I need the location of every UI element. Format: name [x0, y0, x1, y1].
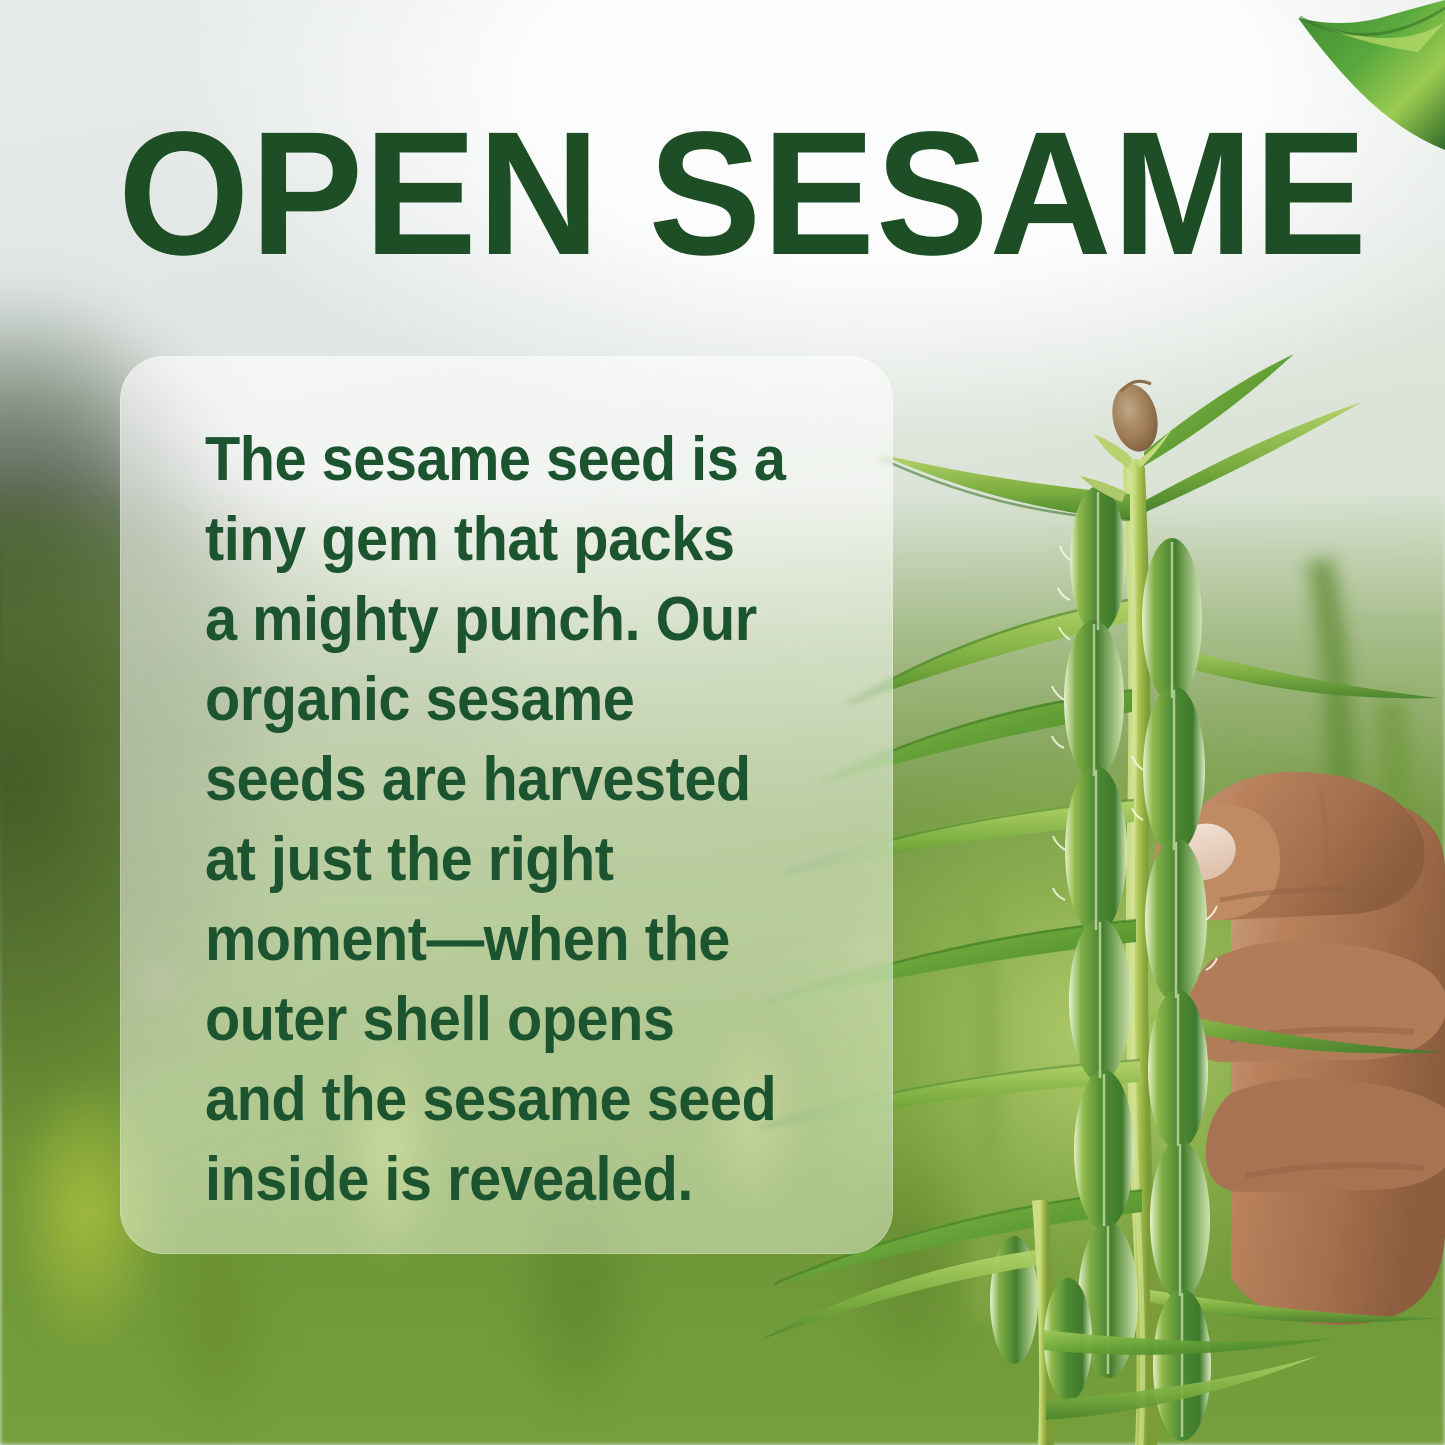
body-copy-text: The sesame seed is a tiny gem that packs… [205, 420, 800, 1220]
poster-canvas: The sesame seed is a tiny gem that packs… [0, 0, 1445, 1445]
page-title: OPEN SESAME [118, 106, 1368, 282]
